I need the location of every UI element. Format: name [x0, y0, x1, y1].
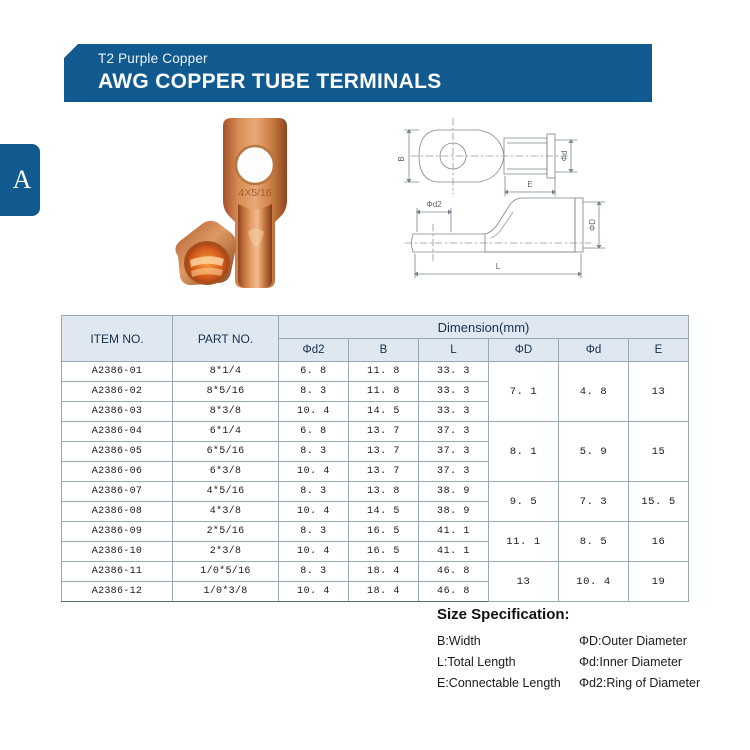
- col-header-b: B: [349, 339, 419, 362]
- banner-title: AWG COPPER TUBE TERMINALS: [98, 68, 652, 96]
- cell-b: 13. 7: [349, 422, 419, 442]
- table-row: A2386-092*5/168. 316. 541. 111. 18. 516: [62, 522, 689, 542]
- cell-l: 37. 3: [419, 462, 489, 482]
- cell-phi-d2: 10. 4: [279, 542, 349, 562]
- table-header-row-1: ITEM NO. PART NO. Dimension(mm): [62, 316, 689, 339]
- cell-phi-D: 11. 1: [489, 522, 559, 562]
- size-spec-entry-right: Φd2:Ring of Diameter: [579, 676, 737, 690]
- cell-item-no: A2386-11: [62, 562, 173, 582]
- cell-phi-d2: 8. 3: [279, 522, 349, 542]
- drawing-side-view: Φd2 L ΦD: [405, 198, 605, 278]
- size-spec-entry-left: L:Total Length: [437, 655, 579, 669]
- size-spec-entry-left: B:Width: [437, 634, 579, 648]
- cell-item-no: A2386-09: [62, 522, 173, 542]
- cell-l: 37. 3: [419, 422, 489, 442]
- cell-item-no: A2386-08: [62, 502, 173, 522]
- cell-l: 46. 8: [419, 582, 489, 602]
- table-row: A2386-018*1/46. 811. 833. 37. 14. 813: [62, 362, 689, 382]
- cell-part-no: 1/0*3/8: [173, 582, 279, 602]
- cell-item-no: A2386-03: [62, 402, 173, 422]
- cell-part-no: 6*3/8: [173, 462, 279, 482]
- cell-phi-D: 9. 5: [489, 482, 559, 522]
- cell-part-no: 8*3/8: [173, 402, 279, 422]
- cell-l: 38. 9: [419, 482, 489, 502]
- table-head: ITEM NO. PART NO. Dimension(mm) Φd2 B L …: [62, 316, 689, 362]
- cell-l: 46. 8: [419, 562, 489, 582]
- cell-phi-d: 10. 4: [559, 562, 629, 602]
- cell-b: 13. 8: [349, 482, 419, 502]
- cell-e: 16: [629, 522, 689, 562]
- product-photo: 4X5/16: [160, 108, 350, 303]
- cell-item-no: A2386-05: [62, 442, 173, 462]
- cell-part-no: 8*5/16: [173, 382, 279, 402]
- cell-part-no: 1/0*5/16: [173, 562, 279, 582]
- cell-phi-D: 8. 1: [489, 422, 559, 482]
- cell-b: 18. 4: [349, 562, 419, 582]
- cell-part-no: 4*5/16: [173, 482, 279, 502]
- size-spec-grid: B:WidthΦD:Outer DiameterL:Total LengthΦd…: [437, 634, 737, 690]
- cell-e: 19: [629, 562, 689, 602]
- table-body: A2386-018*1/46. 811. 833. 37. 14. 813A23…: [62, 362, 689, 602]
- cell-e: 15: [629, 422, 689, 482]
- cell-l: 41. 1: [419, 542, 489, 562]
- cell-l: 33. 3: [419, 402, 489, 422]
- col-header-part-no: PART NO.: [173, 316, 279, 362]
- cell-item-no: A2386-07: [62, 482, 173, 502]
- cell-phi-D: 7. 1: [489, 362, 559, 422]
- cell-phi-d2: 8. 3: [279, 562, 349, 582]
- cell-phi-d2: 10. 4: [279, 462, 349, 482]
- cell-item-no: A2386-10: [62, 542, 173, 562]
- drawing-top-view: B E Φd: [397, 118, 577, 196]
- col-header-e: E: [629, 339, 689, 362]
- cell-phi-d: 4. 8: [559, 362, 629, 422]
- technical-drawings: B E Φd: [395, 106, 655, 296]
- col-header-phi-D: ΦD: [489, 339, 559, 362]
- cell-b: 11. 8: [349, 382, 419, 402]
- cell-part-no: 4*3/8: [173, 502, 279, 522]
- cell-l: 33. 3: [419, 362, 489, 382]
- cell-phi-d2: 8. 3: [279, 442, 349, 462]
- title-banner: T2 Purple Copper AWG COPPER TUBE TERMINA…: [64, 44, 652, 102]
- dim-label-phi-d: Φd: [560, 151, 569, 162]
- dim-label-phi-d2: Φd2: [426, 200, 442, 209]
- section-badge-a: A: [0, 144, 40, 216]
- col-header-phi-d: Φd: [559, 339, 629, 362]
- cell-phi-d2: 10. 4: [279, 582, 349, 602]
- col-header-dimension: Dimension(mm): [279, 316, 689, 339]
- cell-phi-d2: 10. 4: [279, 402, 349, 422]
- cell-phi-d: 8. 5: [559, 522, 629, 562]
- cell-phi-d2: 8. 3: [279, 482, 349, 502]
- table-row: A2386-074*5/168. 313. 838. 99. 57. 315. …: [62, 482, 689, 502]
- cell-item-no: A2386-04: [62, 422, 173, 442]
- cell-item-no: A2386-12: [62, 582, 173, 602]
- dim-label-e: E: [527, 180, 532, 189]
- cell-l: 38. 9: [419, 502, 489, 522]
- cell-b: 16. 5: [349, 542, 419, 562]
- cell-part-no: 8*1/4: [173, 362, 279, 382]
- cell-l: 41. 1: [419, 522, 489, 542]
- size-spec-heading: Size Specification:: [437, 606, 737, 623]
- cell-b: 14. 5: [349, 402, 419, 422]
- lug-secondary: [175, 221, 236, 285]
- cell-phi-d: 7. 3: [559, 482, 629, 522]
- cell-phi-d2: 10. 4: [279, 502, 349, 522]
- cell-phi-d2: 6. 8: [279, 362, 349, 382]
- col-header-item-no: ITEM NO.: [62, 316, 173, 362]
- lug-stamp-text: 4X5/16: [238, 187, 271, 199]
- table-row: A2386-111/0*5/168. 318. 446. 81310. 419: [62, 562, 689, 582]
- table-row: A2386-046*1/46. 813. 737. 38. 15. 915: [62, 422, 689, 442]
- col-header-phi-d2: Φd2: [279, 339, 349, 362]
- cell-e: 13: [629, 362, 689, 422]
- cell-l: 33. 3: [419, 382, 489, 402]
- cell-part-no: 6*1/4: [173, 422, 279, 442]
- size-spec-entry-right: ΦD:Outer Diameter: [579, 634, 737, 648]
- cell-b: 18. 4: [349, 582, 419, 602]
- dim-label-phi-D: ΦD: [588, 219, 597, 231]
- dim-label-l: L: [496, 262, 501, 271]
- cell-phi-D: 13: [489, 562, 559, 602]
- cell-b: 14. 5: [349, 502, 419, 522]
- cell-b: 13. 7: [349, 462, 419, 482]
- cell-phi-d2: 6. 8: [279, 422, 349, 442]
- cell-phi-d2: 8. 3: [279, 382, 349, 402]
- specification-table: ITEM NO. PART NO. Dimension(mm) Φd2 B L …: [61, 315, 689, 602]
- cell-item-no: A2386-06: [62, 462, 173, 482]
- cell-e: 15. 5: [629, 482, 689, 522]
- cell-part-no: 6*5/16: [173, 442, 279, 462]
- cell-item-no: A2386-02: [62, 382, 173, 402]
- dim-label-b: B: [397, 156, 406, 161]
- banner-subtitle: T2 Purple Copper: [98, 50, 652, 67]
- cell-b: 16. 5: [349, 522, 419, 542]
- size-specification-section: Size Specification: B:WidthΦD:Outer Diam…: [437, 606, 737, 690]
- cell-b: 13. 7: [349, 442, 419, 462]
- cell-b: 11. 8: [349, 362, 419, 382]
- cell-part-no: 2*5/16: [173, 522, 279, 542]
- col-header-l: L: [419, 339, 489, 362]
- section-badge-letter: A: [9, 167, 32, 193]
- cell-item-no: A2386-01: [62, 362, 173, 382]
- cell-l: 37. 3: [419, 442, 489, 462]
- size-spec-entry-left: E:Connectable Length: [437, 676, 579, 690]
- size-spec-entry-right: Φd:Inner Diameter: [579, 655, 737, 669]
- cell-phi-d: 5. 9: [559, 422, 629, 482]
- cell-part-no: 2*3/8: [173, 542, 279, 562]
